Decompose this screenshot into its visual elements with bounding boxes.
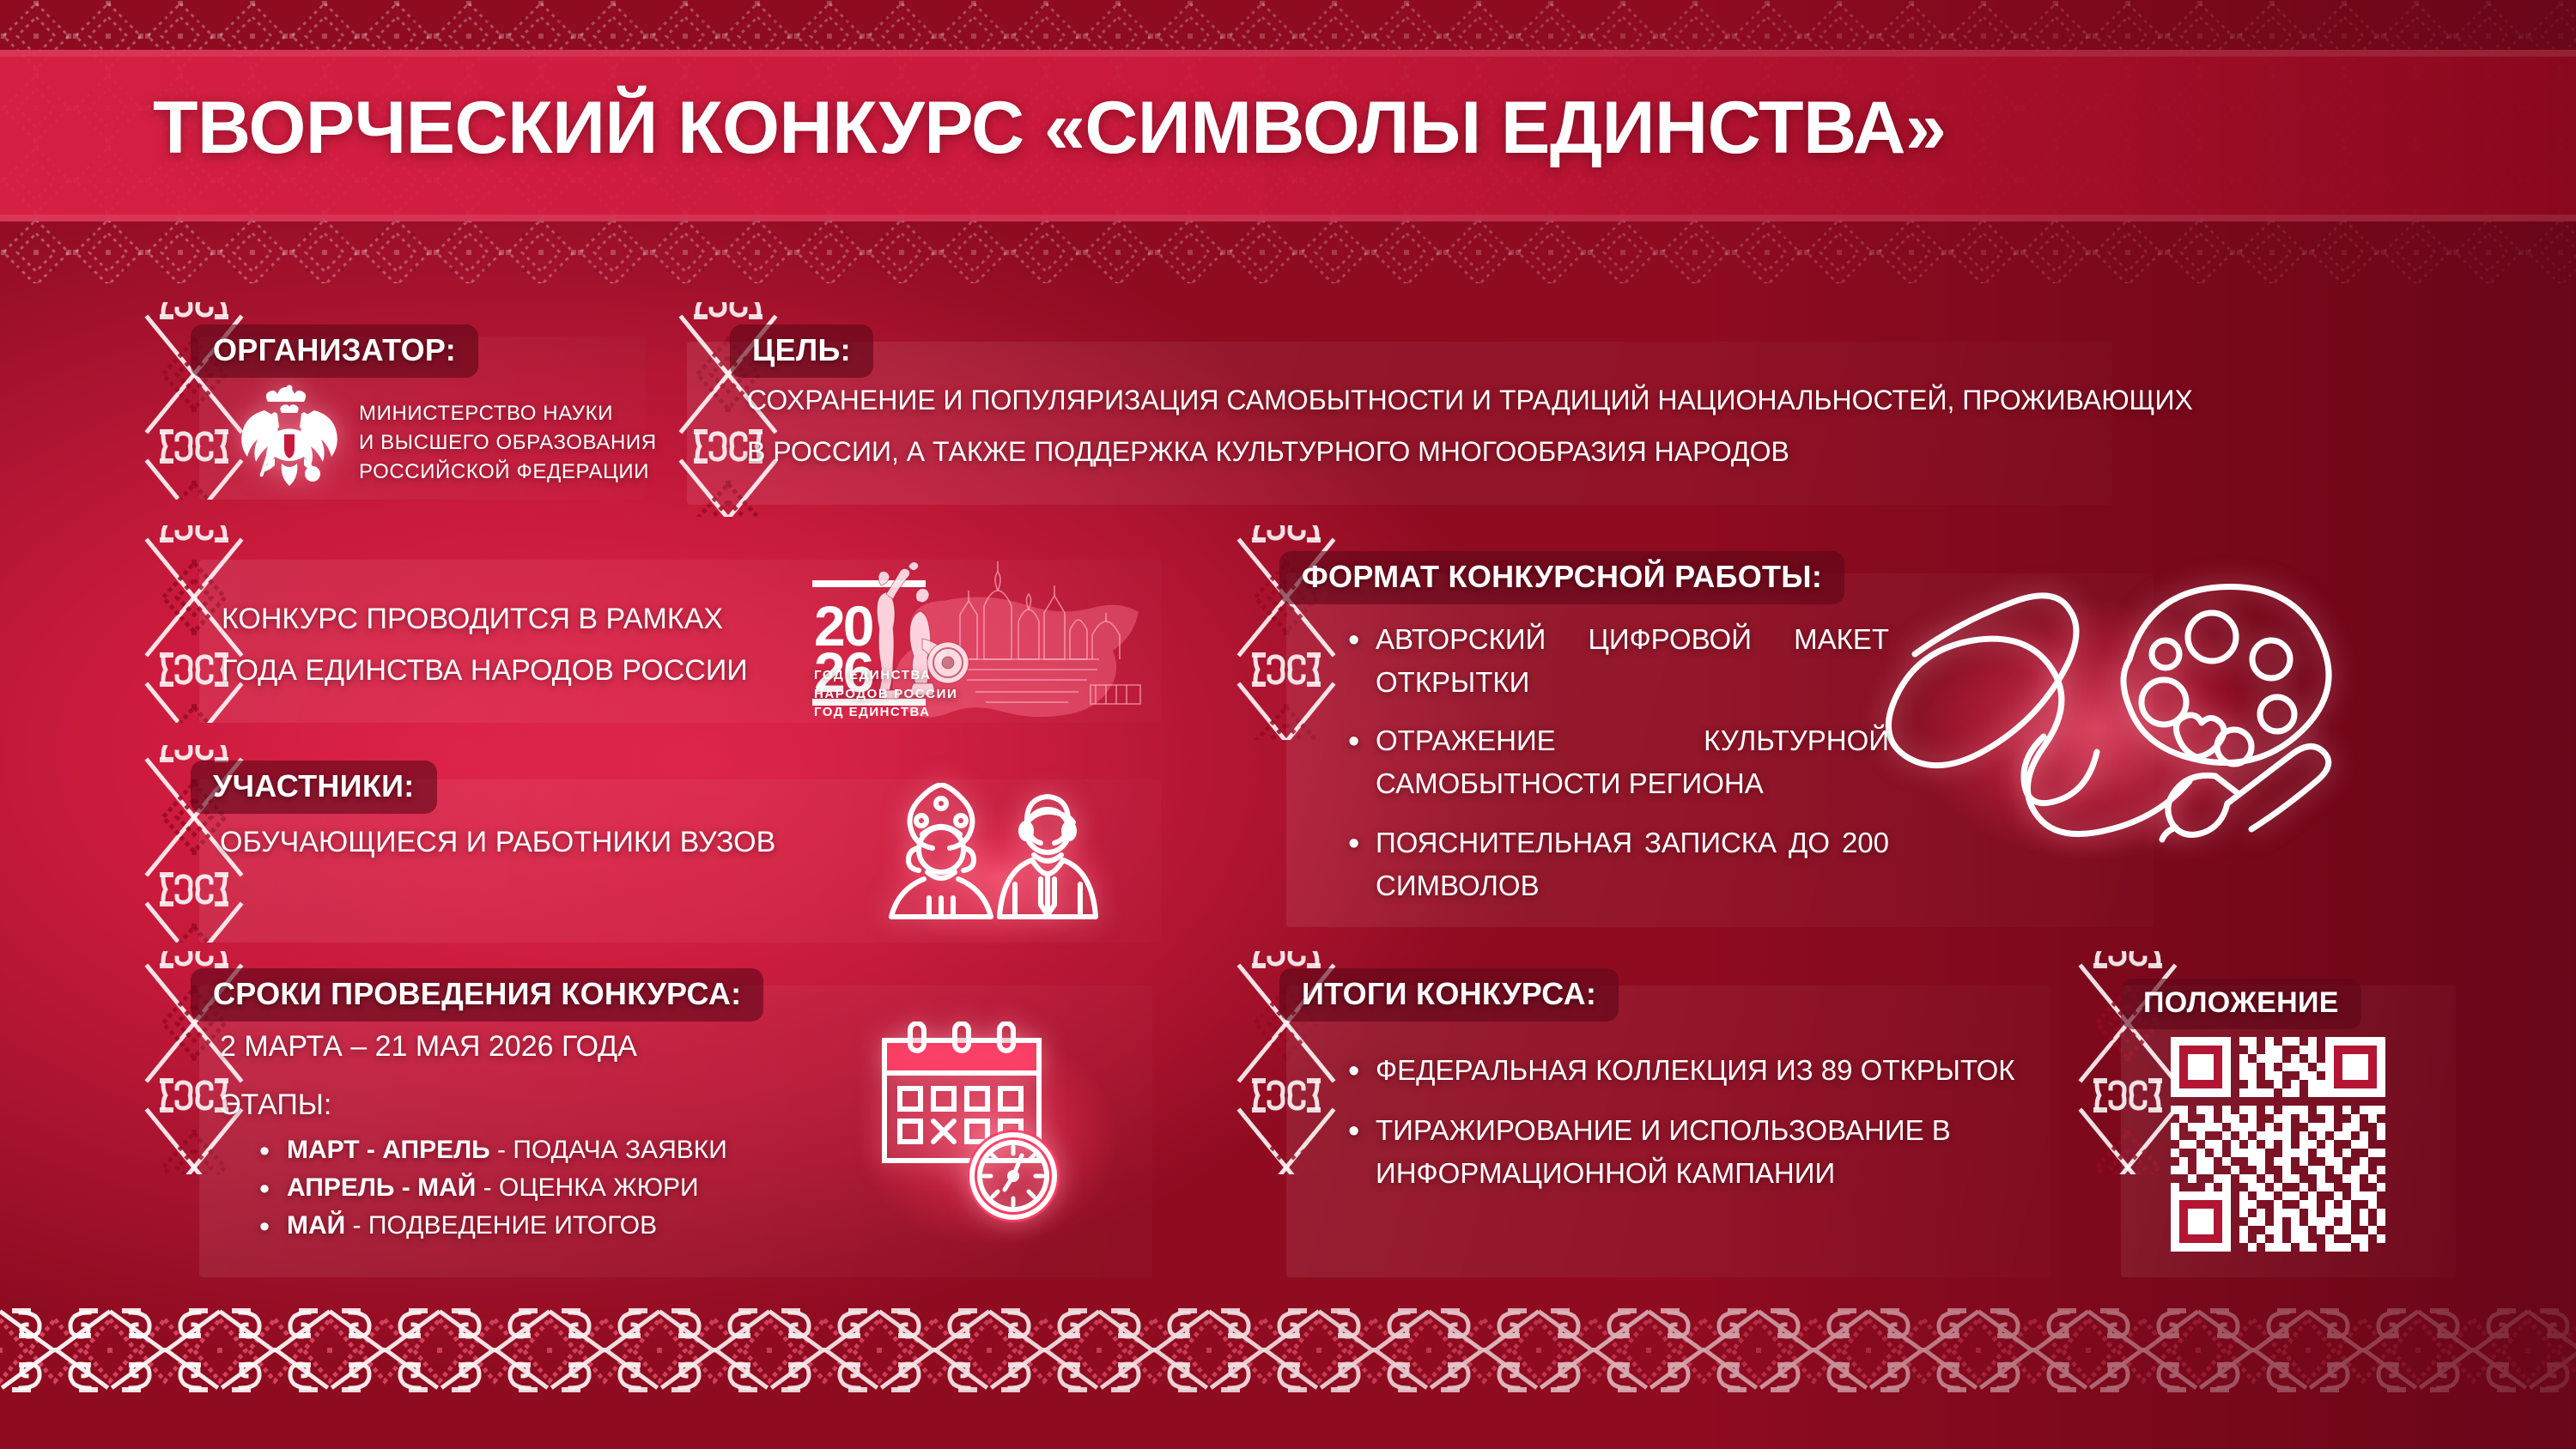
goal-text-line1: СОХРАНЕНИЕ И ПОПУЛЯРИЗАЦИЯ САМОБЫТНОСТИ … xyxy=(747,385,2193,416)
list-item: ТИРАЖИРОВАНИЕ И ИСПОЛЬЗОВАНИЕ В ИНФОРМАЦ… xyxy=(1340,1109,2026,1195)
stage-separator: - xyxy=(490,1136,513,1164)
framework-line1: КОНКУРС ПРОВОДИТСЯ В РАМКАХ xyxy=(222,603,723,636)
results-list: ФЕДЕРАЛЬНАЯ КОЛЛЕКЦИЯ ИЗ 89 ОТКРЫТОК ТИР… xyxy=(1340,1049,2026,1195)
participants-badge: УЧАСТНИКИ: xyxy=(191,761,437,814)
participants-text: ОБУЧАЮЩИЕСЯ И РАБОТНИКИ ВУЗОВ xyxy=(220,826,775,859)
list-item: АПРЕЛЬ - МАЙ - ОЦЕНКА ЖЮРИ xyxy=(251,1169,800,1207)
goal-text-line2: В РОССИИ, А ТАКЖЕ ПОДДЕРЖКА КУЛЬТУРНОГО … xyxy=(747,436,1789,468)
framework-line2: ГОДА ЕДИНСТВА НАРОДОВ РОССИИ xyxy=(222,654,748,688)
stage-separator: - xyxy=(345,1211,368,1240)
list-item: МАРТ - АПРЕЛЬ - ПОДАЧА ЗАЯВКИ xyxy=(251,1131,800,1169)
ministry-name-line1: МИНИСТЕРСТВО НАУКИ xyxy=(359,402,613,426)
stage-months: МАЙ xyxy=(287,1211,345,1240)
stage-description: ПОДВЕДЕНИЕ ИТОГОВ xyxy=(368,1211,657,1240)
bottom-ornament-band xyxy=(0,1282,2576,1428)
list-item: МАЙ - ПОДВЕДЕНИЕ ИТОГОВ xyxy=(251,1207,800,1245)
list-item: ПОЯСНИТЕЛЬНАЯ ЗАПИСКА ДО 200 СИМВОЛОВ xyxy=(1340,822,1889,907)
list-item: АВТОРСКИЙ ЦИФРОВОЙ МАКЕТ ОТКРЫТКИ xyxy=(1340,618,1889,704)
header-band-top-line xyxy=(0,50,2576,57)
stage-separator: - xyxy=(476,1173,499,1202)
list-item: ОТРАЖЕНИЕ КУЛЬТУРНОЙ САМОБЫТНОСТИ РЕГИОН… xyxy=(1340,719,1889,805)
goal-badge: ЦЕЛЬ: xyxy=(730,324,873,378)
palette-brush-icon xyxy=(1880,558,2344,901)
dates-period: 2 МАРТА – 21 МАЯ 2026 ГОДА xyxy=(220,1030,637,1064)
participants-figures-icon xyxy=(872,783,1130,946)
organizer-badge: ОРГАНИЗАТОР: xyxy=(191,324,478,378)
stage-months: МАРТ - АПРЕЛЬ xyxy=(287,1136,490,1164)
ministry-name-line2: И ВЫСШЕГО ОБРАЗОВАНИЯ xyxy=(359,431,657,455)
qr-code[interactable] xyxy=(2171,1037,2385,1252)
list-item: ФЕДЕРАЛЬНАЯ КОЛЛЕКЦИЯ ИЗ 89 ОТКРЫТОК xyxy=(1340,1049,2026,1092)
results-badge: ИТОГИ КОНКУРСА: xyxy=(1279,968,1619,1022)
dates-stages-list: МАРТ - АПРЕЛЬ - ПОДАЧА ЗАЯВКИ АПРЕЛЬ - М… xyxy=(251,1131,800,1245)
page-title: ТВОРЧЕСКИЙ КОНКУРС «СИМВОЛЫ ЕДИНСТВА» xyxy=(153,86,1946,171)
russian-coat-of-arms-emblem xyxy=(234,385,345,494)
regulation-badge: ПОЛОЖЕНИЕ xyxy=(2121,979,2361,1029)
goal-panel xyxy=(687,342,2112,505)
dates-stages-label: ЭТАПЫ: xyxy=(220,1088,331,1122)
ministry-name-line3: РОССИЙСКОЙ ФЕДЕРАЦИИ xyxy=(359,460,649,484)
header-band-bottom-line xyxy=(0,215,2576,221)
stage-months: АПРЕЛЬ - МАЙ xyxy=(287,1173,476,1202)
stage-description: ОЦЕНКА ЖЮРИ xyxy=(499,1173,699,1202)
stage-description: ПОДАЧА ЗАЯВКИ xyxy=(513,1136,726,1164)
year-of-unity-caption-line2: НАРОДОВ РОССИИ xyxy=(814,687,957,701)
year-of-unity-caption-line1: ГОД ЕДИНСТВА xyxy=(814,668,932,682)
format-list: АВТОРСКИЙ ЦИФРОВОЙ МАКЕТ ОТКРЫТКИ ОТРАЖЕ… xyxy=(1340,618,1889,907)
year-of-unity-caption-1: ГОД ЕДИНСТВА xyxy=(814,705,930,719)
calendar-clock-icon xyxy=(850,1022,1125,1262)
dates-badge: СРОКИ ПРОВЕДЕНИЯ КОНКУРСА: xyxy=(191,968,763,1022)
format-badge: ФОРМАТ КОНКУРСНОЙ РАБОТЫ: xyxy=(1279,551,1844,604)
poster-root: ТВОРЧЕСКИЙ КОНКУРС «СИМВОЛЫ ЕДИНСТВА» xyxy=(0,0,2576,1449)
